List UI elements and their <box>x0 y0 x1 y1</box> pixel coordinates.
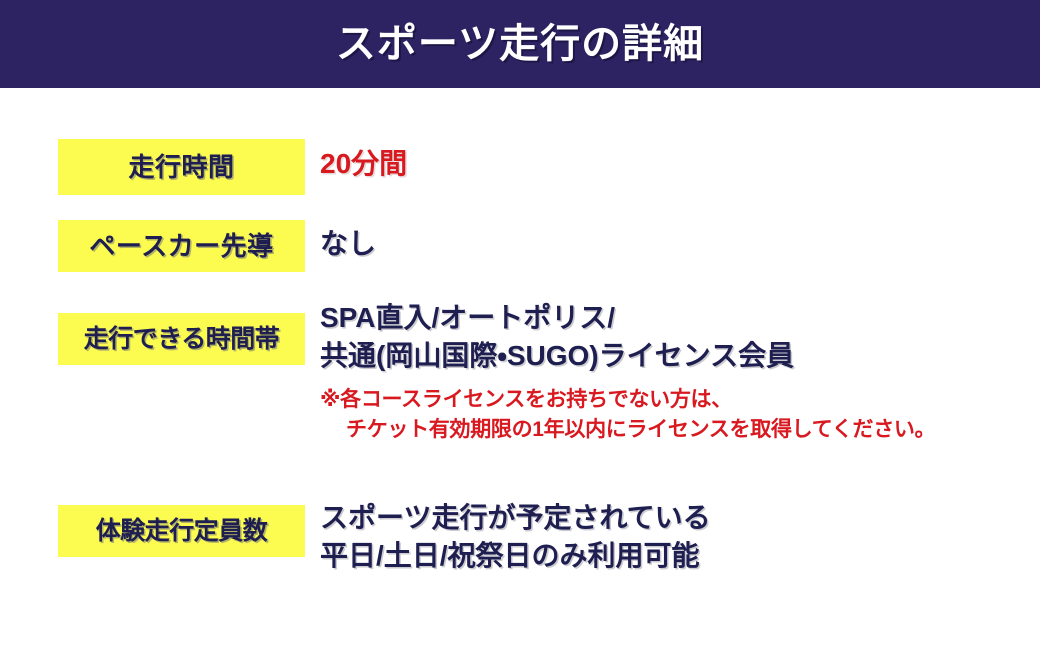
spec-label-available-time-slot: 走行できる時間帯 <box>58 313 305 365</box>
spec-value-line: なし <box>320 225 1020 263</box>
spec-row-pace-car: ペースカー先導 なし <box>0 220 1040 272</box>
spec-note-line: チケット有効期限の1年以内にライセンスを取得してください。 <box>320 415 1020 445</box>
page-header-banner: スポーツ走行の詳細 <box>0 0 1040 88</box>
spec-value-line: SPA直入/オートポリス/ <box>320 299 1020 337</box>
spec-value-line: 平日/土日/祝祭日のみ利用可能 <box>320 537 1020 575</box>
spec-note-group: ※各コースライセンスをお持ちでない方は、 チケット有効期限の1年以内にライセンス… <box>320 385 1020 445</box>
spec-value-line: スポーツ走行が予定されている <box>320 499 1020 537</box>
sports-driving-details-page: スポーツ走行の詳細 走行時間 20分間 ペースカー先導 なし 走行できる時間帯 … <box>0 0 1040 646</box>
spec-value-pace-car: なし <box>320 225 1020 263</box>
spec-value-line: 20分間 <box>320 145 1020 183</box>
spec-value-line: 共通(岡山国際・SUGO)ライセンス会員 <box>320 337 1020 375</box>
spec-value-trial-capacity: スポーツ走行が予定されている 平日/土日/祝祭日のみ利用可能 <box>320 499 1020 575</box>
spec-row-available-time-slot: 走行できる時間帯 SPA直入/オートポリス/ 共通(岡山国際・SUGO)ライセン… <box>0 313 1040 493</box>
spec-label-trial-capacity: 体験走行定員数 <box>58 505 305 557</box>
spec-row-trial-capacity: 体験走行定員数 スポーツ走行が予定されている 平日/土日/祝祭日のみ利用可能 <box>0 505 1040 615</box>
spec-label-pace-car: ペースカー先導 <box>58 220 305 272</box>
spec-label-duration: 走行時間 <box>58 139 305 195</box>
spec-note-line: ※各コースライセンスをお持ちでない方は、 <box>320 385 1020 415</box>
spec-row-duration: 走行時間 20分間 <box>0 139 1040 195</box>
page-title: スポーツ走行の詳細 <box>336 24 704 64</box>
spec-value-available-time-slot: SPA直入/オートポリス/ 共通(岡山国際・SUGO)ライセンス会員 ※各コース… <box>320 299 1020 445</box>
spec-value-duration: 20分間 <box>320 145 1020 183</box>
